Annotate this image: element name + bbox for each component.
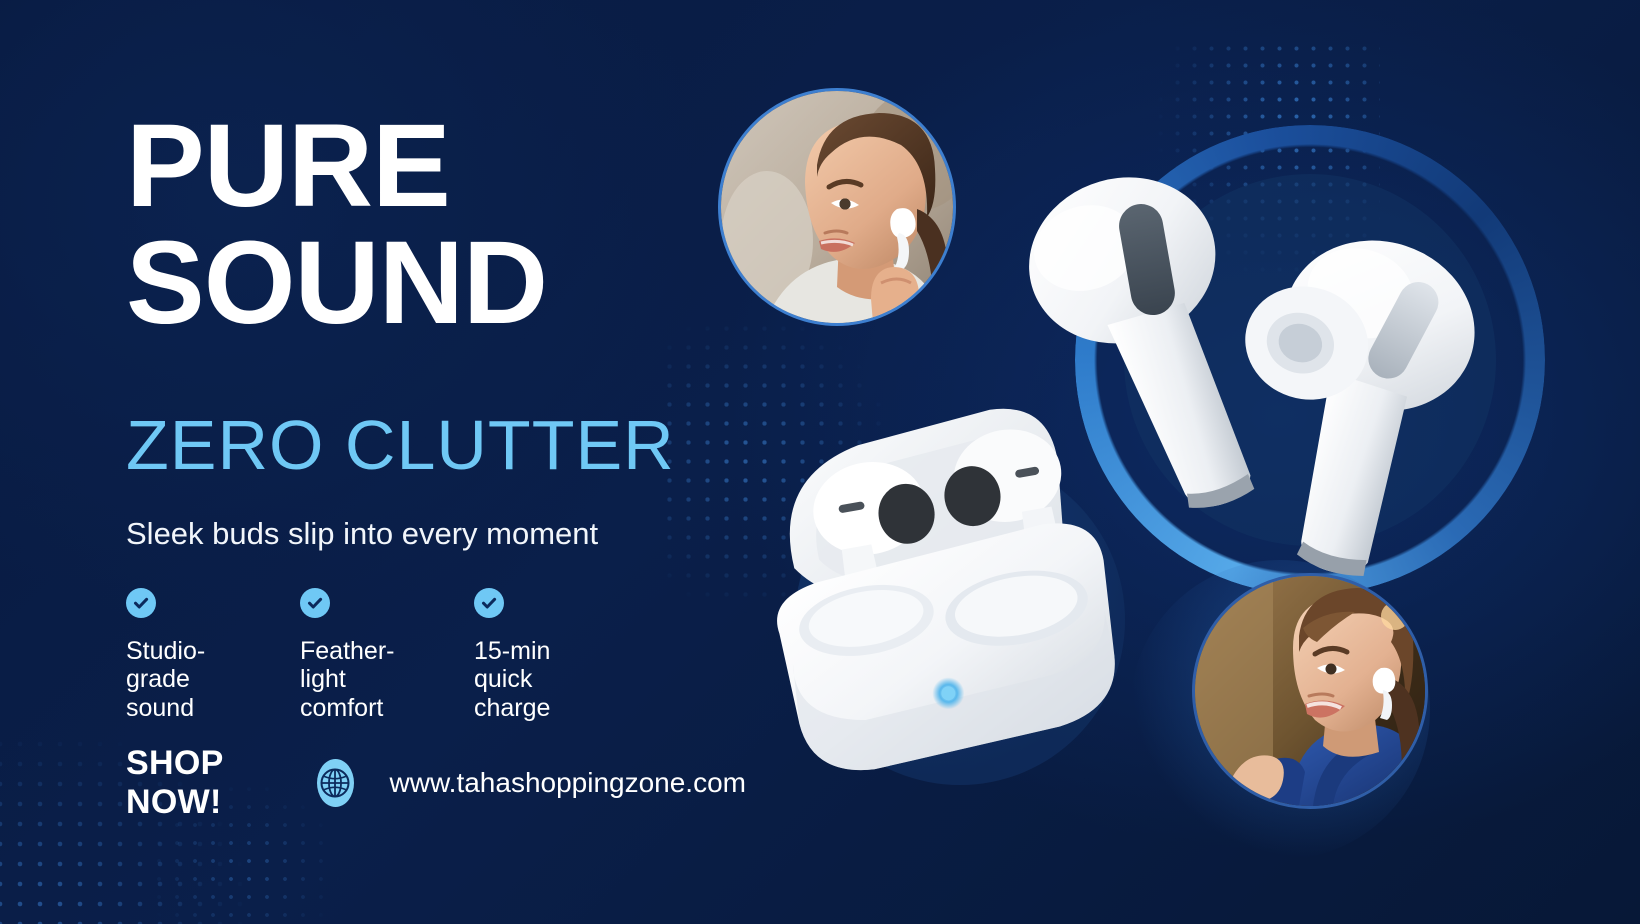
halftone-dots-top-right	[1050, 40, 1380, 370]
photo-woman-with-earbud-bottom	[1192, 573, 1428, 809]
content-column: PURE SOUND ZERO CLUTTER Sleek buds slip …	[126, 0, 746, 924]
page-title: PURE SOUND	[126, 108, 726, 342]
feature-item: Feather- light comfort	[300, 588, 474, 722]
feature-label: Studio- grade sound	[126, 637, 300, 722]
product-charging-case	[735, 395, 1125, 775]
product-earbuds-pair	[975, 150, 1535, 570]
decorative-disc-medium	[795, 455, 1125, 785]
check-circle-icon	[126, 588, 156, 618]
feature-item: Studio- grade sound	[126, 588, 300, 722]
feature-item: 15-min quick charge	[474, 588, 648, 722]
headline-line-2: SOUND	[126, 225, 726, 342]
decorative-disc-large	[1124, 174, 1496, 546]
feature-label: 15-min quick charge	[474, 637, 648, 722]
photo-woman-with-earbud-top	[718, 88, 956, 326]
call-to-action: SHOP NOW! www.tahashoppingzone.com	[126, 744, 746, 822]
globe-icon	[317, 759, 354, 807]
headline-line-1: PURE	[126, 100, 450, 232]
promo-banner: PURE SOUND ZERO CLUTTER Sleek buds slip …	[0, 0, 1640, 924]
decorative-ring-large	[1075, 125, 1545, 595]
shop-now-button[interactable]: SHOP NOW!	[126, 744, 281, 822]
subheadline: ZERO CLUTTER	[126, 410, 675, 480]
check-circle-icon	[474, 588, 504, 618]
check-circle-icon	[300, 588, 330, 618]
feature-list: Studio- grade sound Feather- light comfo…	[126, 588, 648, 722]
tagline: Sleek buds slip into every moment	[126, 515, 598, 552]
decorative-ring-medium	[760, 420, 1160, 820]
website-url[interactable]: www.tahashoppingzone.com	[390, 767, 746, 799]
feature-label: Feather- light comfort	[300, 637, 474, 722]
